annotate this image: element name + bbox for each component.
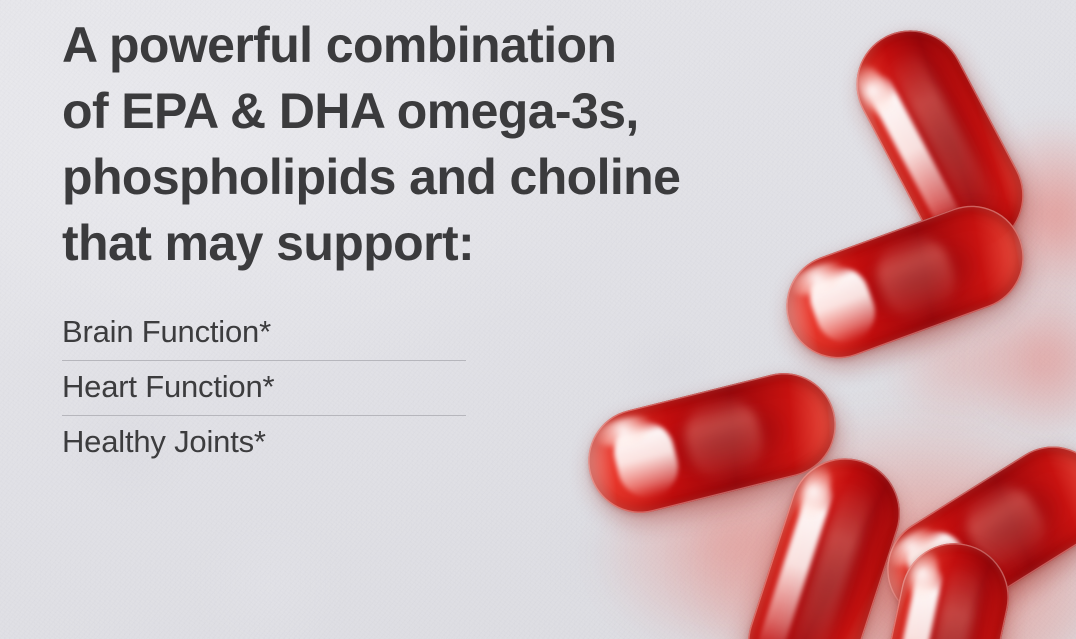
benefit-item-joints: Healthy Joints* xyxy=(62,415,466,470)
benefit-item-heart: Heart Function* xyxy=(62,360,466,415)
benefit-list: Brain Function* Heart Function* Healthy … xyxy=(62,306,466,470)
benefit-item-brain: Brain Function* xyxy=(62,306,466,360)
promo-banner: A powerful combination of EPA & DHA omeg… xyxy=(0,0,1076,639)
page-title: A powerful combination of EPA & DHA omeg… xyxy=(62,12,782,276)
text-column: A powerful combination of EPA & DHA omeg… xyxy=(62,12,782,470)
